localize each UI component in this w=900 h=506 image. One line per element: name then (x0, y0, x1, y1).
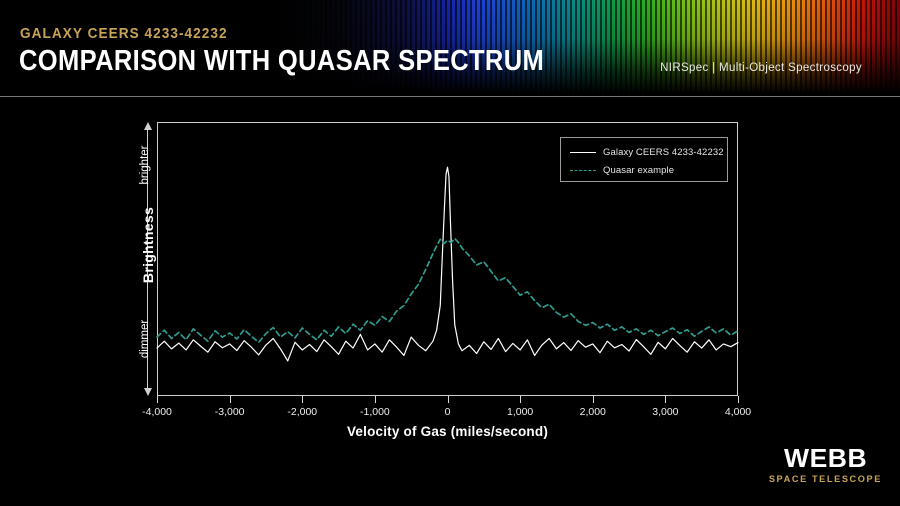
arrow-down-icon (144, 388, 152, 396)
x-tick-label: 2,000 (580, 406, 606, 418)
series-line-quasar (157, 238, 738, 342)
x-tick-label: -1,000 (360, 406, 390, 418)
x-tick (738, 396, 739, 403)
legend-label-quasar: Quasar example (603, 165, 674, 176)
instrument-label: NIRSpec | Multi-Object Spectroscopy (660, 62, 862, 74)
x-tick (520, 396, 521, 403)
y-axis-title: Brightness (140, 185, 156, 305)
x-axis-title: Velocity of Gas (miles/second) (157, 424, 738, 439)
series-line-galaxy (157, 167, 738, 361)
x-tick-label: 1,000 (507, 406, 533, 418)
x-axis: -4,000-3,000-2,000-1,00001,0002,0003,000… (157, 396, 738, 397)
x-tick (157, 396, 158, 403)
x-tick (665, 396, 666, 403)
webb-logo: WEBB SPACE TELESCOPE (769, 445, 882, 484)
x-tick-label: -3,000 (215, 406, 245, 418)
chart-area: brighter Brightness dimmer -4,000-3,000-… (0, 97, 900, 506)
legend-swatch-dashed-icon (570, 170, 596, 171)
x-tick (375, 396, 376, 403)
webb-logo-main: WEBB (768, 445, 883, 471)
legend-item-quasar: Quasar example (570, 164, 674, 176)
eyebrow-label: GALAXY CEERS 4233-42232 (20, 26, 228, 42)
x-tick (448, 396, 449, 403)
x-tick-label: -2,000 (287, 406, 317, 418)
x-tick (593, 396, 594, 403)
chart-legend: Galaxy CEERS 4233-42232 Quasar example (560, 137, 728, 182)
x-tick-label: 0 (445, 406, 451, 418)
webb-spectrum-infographic: GALAXY CEERS 4233-42232 COMPARISON WITH … (0, 0, 900, 506)
page-title: COMPARISON WITH QUASAR SPECTRUM (19, 45, 544, 78)
x-tick (302, 396, 303, 403)
y-axis-bottom-label: dimmer (139, 299, 151, 379)
x-tick (230, 396, 231, 403)
x-tick-label: 4,000 (725, 406, 751, 418)
x-tick-label: 3,000 (652, 406, 678, 418)
legend-item-galaxy: Galaxy CEERS 4233-42232 (570, 146, 724, 158)
webb-logo-sub: SPACE TELESCOPE (769, 474, 882, 484)
legend-label-galaxy: Galaxy CEERS 4233-42232 (603, 147, 724, 158)
legend-swatch-solid-icon (570, 152, 596, 153)
x-tick-label: -4,000 (142, 406, 172, 418)
